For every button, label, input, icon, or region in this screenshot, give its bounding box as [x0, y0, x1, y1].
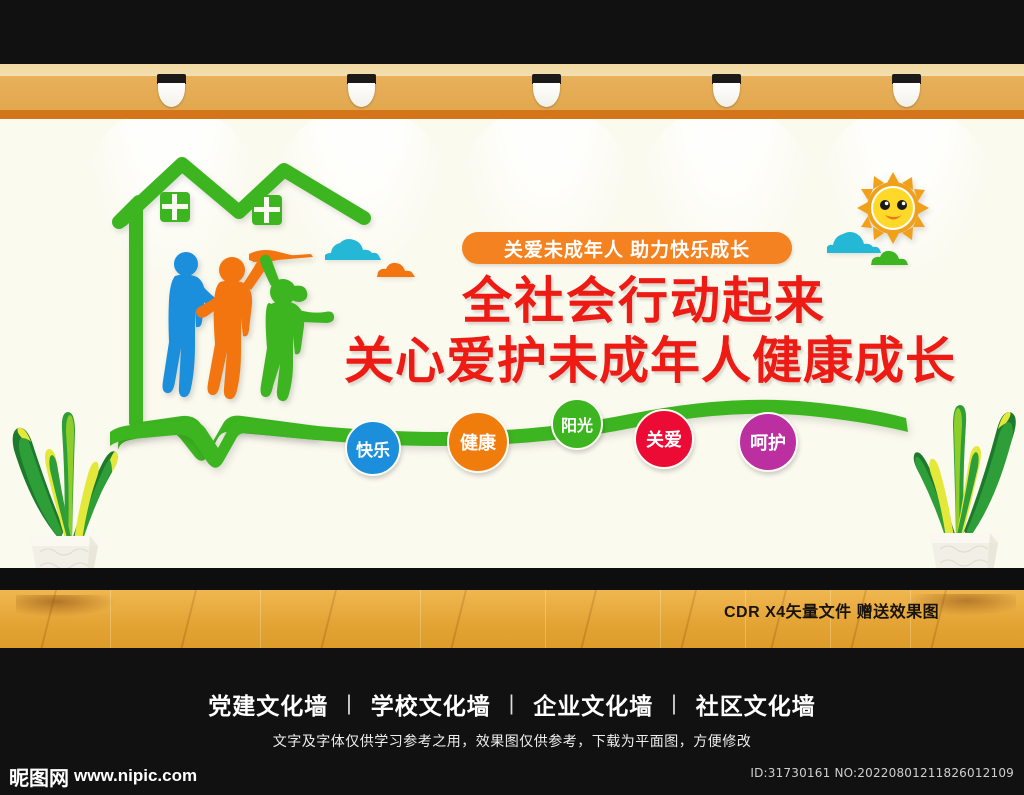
children-silhouettes-icon: [155, 248, 355, 403]
headline-line-2: 关心爱护未成年人健康成长: [344, 332, 924, 390]
disclaimer-note: 文字及字体仅供学习参考之用，效果图仅供参考，下载为平面图，方便修改: [0, 731, 1024, 751]
site-watermark[interactable]: 昵图网 www.nipic.com: [9, 763, 197, 789]
tag-school-culture-wall[interactable]: 学校文化墙: [371, 687, 491, 721]
asset-id-text: ID:31730161 NO:20220801211826012109: [750, 766, 1014, 780]
potted-plant-right: [902, 385, 1024, 585]
bubble-care[interactable]: 关爱: [634, 409, 694, 469]
brand-name-cn: 昵图网: [9, 762, 69, 791]
bubble-health[interactable]: 健康: [447, 411, 509, 473]
spotlight-hook-icon: [710, 74, 743, 108]
baseboard-shadow: [0, 568, 1024, 590]
bubble-happy[interactable]: 快乐: [345, 420, 401, 476]
rail-highlight: [0, 64, 1024, 76]
bubble-sunshine[interactable]: 阳光: [551, 398, 603, 450]
potted-plant-left: [2, 390, 130, 590]
poster-canvas: 关爱未成年人 助力快乐成长 全社会行动起来 关心爱护未成年人健康成长 快乐 健康…: [0, 0, 1024, 795]
rail-wood: [0, 76, 1024, 110]
brand-url: www.nipic.com: [74, 766, 197, 786]
cloud-orange-icon: [377, 261, 419, 277]
top-black-band: [0, 0, 1024, 64]
floor-caption: CDR X4矢量文件 赠送效果图: [724, 600, 1004, 626]
cloud-blue-icon: [325, 238, 387, 260]
subtitle-pill: 关爱未成年人 助力快乐成长: [462, 232, 792, 264]
tag-party-culture-wall[interactable]: 党建文化墙: [208, 687, 328, 721]
spotlight-hook-icon: [345, 74, 378, 108]
tag-enterprise-culture-wall[interactable]: 企业文化墙: [533, 687, 653, 721]
rail-shadow: [0, 110, 1024, 119]
tag-community-culture-wall[interactable]: 社区文化墙: [696, 687, 816, 721]
tag-separator: |: [509, 692, 515, 716]
spotlight-hook-icon: [155, 74, 188, 108]
tag-separator: |: [671, 692, 677, 716]
spotlight-hook-icon: [530, 74, 563, 108]
tag-separator: |: [346, 692, 352, 716]
pot-shadow-left: [16, 595, 116, 617]
cloud-green-icon: [871, 249, 911, 265]
bubble-protect[interactable]: 呵护: [738, 412, 798, 472]
category-tag-row: 党建文化墙 | 学校文化墙 | 企业文化墙 | 社区文化墙: [0, 687, 1024, 721]
spotlight-hook-icon: [890, 74, 923, 108]
headline-line-1: 全社会行动起来: [462, 272, 922, 330]
